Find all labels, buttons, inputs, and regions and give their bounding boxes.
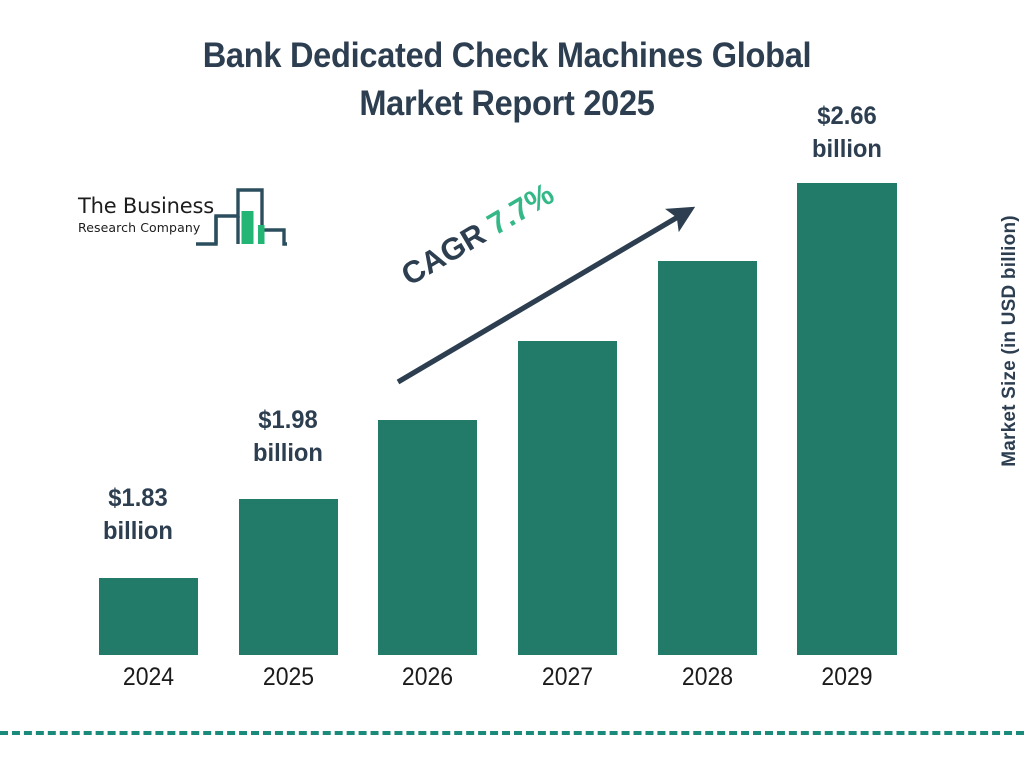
footer-divider xyxy=(0,731,1024,735)
bar-2025 xyxy=(239,499,338,655)
x-tick-2029: 2029 xyxy=(801,662,893,692)
x-tick-2027: 2027 xyxy=(522,662,613,692)
bar-2027 xyxy=(518,341,617,655)
bar-2028 xyxy=(658,261,757,655)
bar-value-label-2024: $1.83 billion xyxy=(81,482,195,548)
logo-line-1: The Business xyxy=(78,196,208,217)
company-logo: The Business Research Company xyxy=(78,186,288,252)
x-tick-2028: 2028 xyxy=(662,662,753,692)
chart-canvas: Bank Dedicated Check Machines Global Mar… xyxy=(0,0,1024,768)
cagr-value: 7.7% xyxy=(481,176,560,242)
page-title: Bank Dedicated Check Machines Global Mar… xyxy=(140,32,875,128)
y-axis-title: Market Size (in USD billion) xyxy=(999,191,1021,491)
x-tick-2026: 2026 xyxy=(382,662,473,692)
bar-value-label-2025: $1.98 billion xyxy=(231,404,345,470)
bar-2024 xyxy=(99,578,198,655)
bar-value-label-2029: $2.66 billion xyxy=(790,100,904,166)
logo-line-2: Research Company xyxy=(78,222,208,235)
bar-2029 xyxy=(797,183,897,655)
bar-chart-logo-mark xyxy=(194,186,289,248)
x-tick-2025: 2025 xyxy=(243,662,334,692)
x-tick-2024: 2024 xyxy=(103,662,194,692)
bar-2026 xyxy=(378,420,477,655)
logo-text: The Business Research Company xyxy=(78,196,208,235)
cagr-annotation: CAGR 7.7% xyxy=(396,168,575,291)
cagr-label: CAGR xyxy=(395,212,499,293)
